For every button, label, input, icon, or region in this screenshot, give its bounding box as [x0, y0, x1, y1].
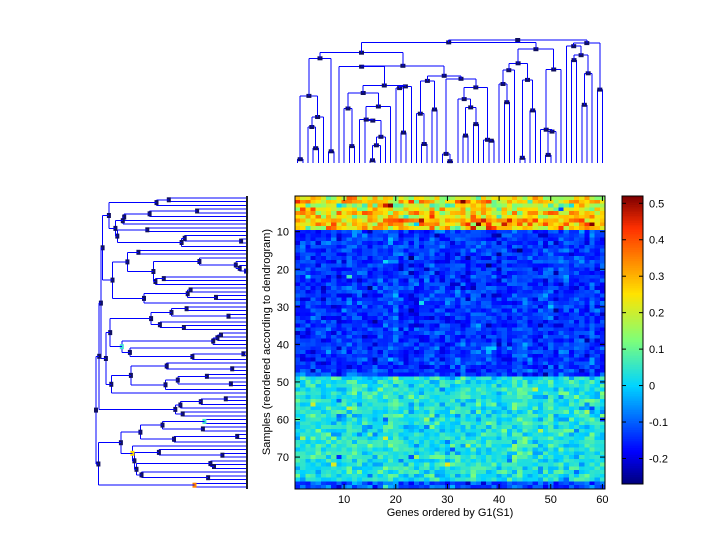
colorbar-tick-label: -0.2: [649, 453, 668, 465]
y-tick-label: 20: [277, 264, 289, 276]
colorbar-tick-label: 0.5: [649, 198, 664, 210]
colorbar-tick-label: 0.2: [649, 308, 664, 320]
y-tick-label: 10: [277, 227, 289, 239]
colorbar-tick-label: 0.4: [649, 235, 664, 247]
x-tick-label: 50: [545, 494, 557, 506]
y-tick-label: 40: [277, 339, 289, 351]
x-tick-label: 30: [441, 494, 453, 506]
matlab-figure: 10203040506010203040506070 Genes ordered…: [0, 0, 720, 540]
x-axis-label: Genes ordered by G1(S1): [387, 507, 514, 519]
y-tick-label: 60: [277, 415, 289, 427]
y-axis-label: Samples (reordered according to dendrogr…: [261, 229, 273, 455]
colorbar-tick-label: 0: [649, 381, 655, 393]
figure-canvas: 10203040506010203040506070 Genes ordered…: [0, 0, 720, 540]
colorbar-tick-label: 0.3: [649, 271, 664, 283]
heatmap-image: [295, 196, 606, 490]
x-tick-label: 20: [390, 494, 402, 506]
colorbar-tick-label: 0.1: [649, 344, 664, 356]
y-tick-label: 50: [277, 377, 289, 389]
colorbar-tick-label: -0.1: [649, 417, 668, 429]
x-tick-label: 60: [596, 494, 608, 506]
y-tick-label: 30: [277, 302, 289, 314]
x-tick-label: 10: [338, 494, 350, 506]
y-tick-label: 70: [277, 452, 289, 464]
x-tick-label: 40: [493, 494, 505, 506]
